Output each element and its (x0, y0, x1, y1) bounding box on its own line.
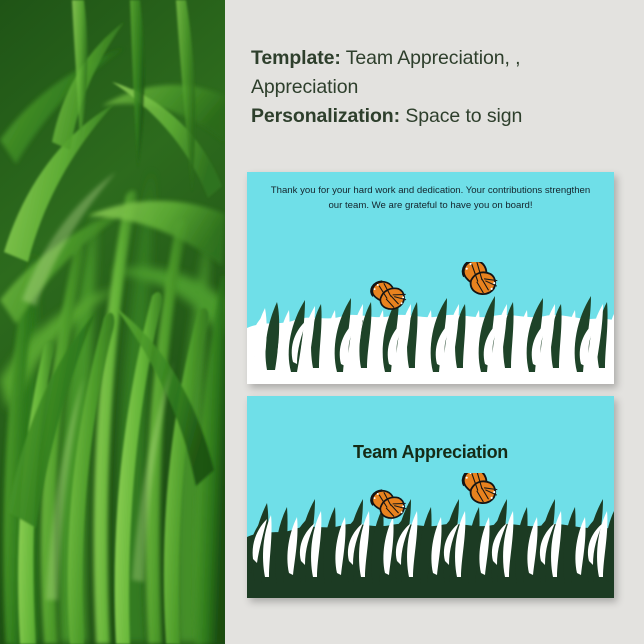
greeting-card-preview-page: Template: Team Appreciation, , Appreciat… (0, 0, 644, 644)
card-grass-artwork-light (247, 262, 614, 384)
message-card[interactable]: Thank you for your hard work and dedicat… (247, 172, 614, 384)
butterfly-right-icon (462, 262, 499, 296)
grass-artwork-dark-svg (247, 473, 614, 598)
cover-card[interactable]: Team Appreciation (247, 396, 614, 598)
grass-photo-illustration (0, 0, 225, 644)
card-message-text: Thank you for your hard work and dedicat… (265, 184, 596, 213)
personalization-value: Space to sign (400, 105, 522, 127)
grass-photo-panel (0, 0, 225, 644)
personalization-line: Personalization: Space to sign (251, 102, 611, 131)
personalization-label: Personalization: (251, 105, 400, 127)
butterfly-left-icon (369, 485, 408, 523)
card-grass-artwork-dark (247, 473, 614, 598)
butterfly-left-icon (369, 276, 408, 314)
content-column: Template: Team Appreciation, , Appreciat… (225, 0, 644, 644)
butterfly-right-icon (462, 473, 499, 505)
card-title-text: Team Appreciation (247, 442, 614, 463)
template-label: Template: (251, 47, 341, 69)
template-line: Template: Team Appreciation, , Appreciat… (251, 44, 611, 102)
template-metadata: Template: Team Appreciation, , Appreciat… (251, 44, 611, 131)
grass-artwork-light-svg (247, 262, 614, 384)
